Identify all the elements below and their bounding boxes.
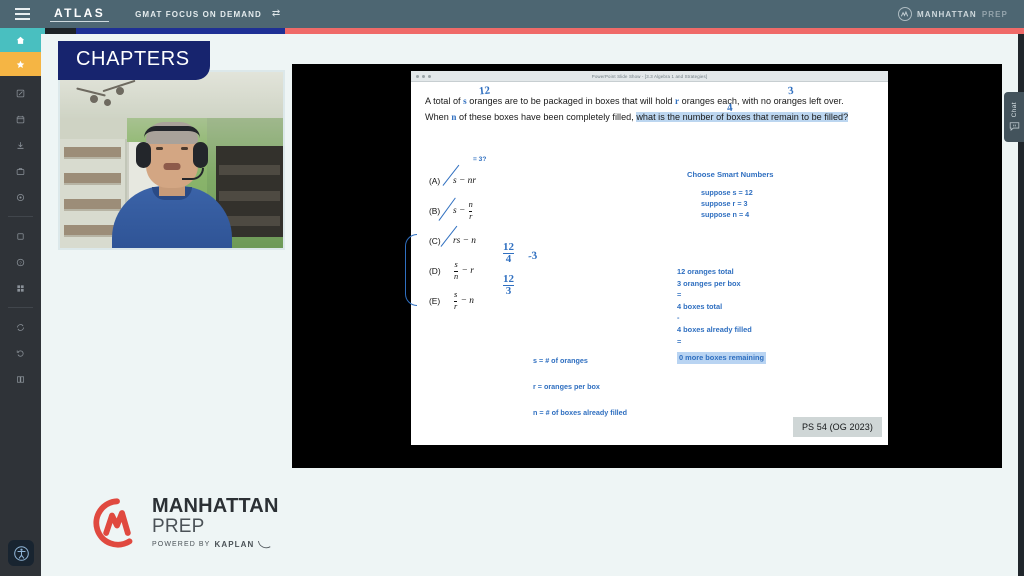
svg-text:?: ? [19,260,22,265]
ink-work-e: 123 [503,274,514,297]
powerpoint-window-title: PowerPoint Slide Show - [3.3 Algebra 1 a… [411,74,888,79]
question-highlighted-clause: what is the number of boxes that remain … [636,112,848,122]
chat-bubble-icon [1009,121,1020,132]
brand-atlas[interactable]: ATLAS [50,6,109,22]
answer-choice-b[interactable]: (B) s − nr [429,200,579,222]
hamburger-icon[interactable] [0,0,44,28]
sidebar-item-calendar[interactable] [0,106,41,132]
answer-choice-a-expr: s − nr [453,176,476,186]
source-tag: PS 54 (OG 2023) [793,417,882,437]
sidebar-item-dashboard[interactable] [0,275,41,301]
video-scene [60,72,283,248]
calc-line-4: 4 boxes total [677,301,766,313]
header-logo: MANHATTAN PREP [898,7,1008,21]
answer-choice-a[interactable]: (A) s − nr [429,170,579,192]
accessibility-person-icon[interactable] [8,540,34,566]
instructor-figure [112,120,232,248]
calc-line-2: 3 oranges per box [677,278,766,290]
instructor-video-feed[interactable] [58,70,285,250]
atlas-course-player: ATLAS GMAT FOCUS ON DEMAND ⇄ MANHATTAN P… [0,0,1024,576]
progress-segment-completed [0,28,45,34]
smart-numbers-title: Choose Smart Numbers [687,170,774,179]
smart-numbers-panel: Choose Smart Numbers suppose s = 12 supp… [687,170,774,221]
ink-annotation-above-s: 12 [478,84,490,97]
question-line2-b: of these boxes have been [456,112,563,122]
ink-work-d: 124 [503,242,514,265]
footer-tagline-prefix: POWERED BY [152,541,210,548]
definition-n: n = # of boxes already filled [533,408,627,417]
footer-logo-line2: PREP [152,517,279,536]
ink-annotation-above-n: 4 [726,102,733,115]
smart-numbers-line-1: suppose s = 12 [701,188,774,197]
calc-line-5: - [677,312,766,324]
sidebar-item-help[interactable]: ? [0,249,41,275]
definition-r: r = oranges per box [533,382,627,391]
chat-tab-label: Chat [1011,102,1018,117]
top-header-bar: ATLAS GMAT FOCUS ON DEMAND ⇄ MANHATTAN P… [0,0,1024,28]
footer-tagline-brand: KAPLAN [214,541,254,549]
rail-divider-1 [8,216,33,217]
slide-content: A total of s oranges are to be packaged … [411,82,888,445]
calc-line-8-answer: 0 more boxes remaining [677,352,766,364]
question-line1-c: oranges [679,96,715,106]
progress-segment-remaining [285,28,1024,34]
sidebar-item-favorites[interactable] [0,52,41,76]
sidebar-item-settings[interactable] [0,184,41,210]
calc-line-6: 4 boxes already filled [677,324,766,336]
calc-line-1: 12 oranges total [677,266,766,278]
answer-choice-d-expr: sn − r [453,261,474,281]
answer-choice-c-expr: rs − n [453,236,476,246]
answer-choice-d-label: (D) [429,266,453,276]
sidebar-item-book[interactable] [0,366,41,392]
question-line1-a: A total of [425,96,463,106]
answer-choice-b-expr: s − nr [453,201,474,221]
powerpoint-titlebar: PowerPoint Slide Show - [3.3 Algebra 1 a… [411,71,888,82]
chapters-banner[interactable]: CHAPTERS [58,41,210,80]
ink-brace [405,234,417,306]
smart-numbers-line-2: suppose r = 3 [701,199,774,208]
sidebar-item-history[interactable] [0,340,41,366]
sidebar-item-notes[interactable] [0,223,41,249]
sidebar-item-downloads[interactable] [0,132,41,158]
variable-definitions: s = # of oranges r = oranges per box n =… [533,356,627,434]
question-line1-b: oranges are to be packaged in boxes that… [467,96,675,106]
sidebar-item-sync[interactable] [0,314,41,340]
calculation-panel: 12 oranges total 3 oranges per box = 4 b… [677,266,766,365]
progress-segment-current [76,28,285,34]
powerpoint-window: PowerPoint Slide Show - [3.3 Algebra 1 a… [411,71,888,445]
ink-annotation-equals-hint: = 3? [473,156,486,163]
manhattan-prep-mark-icon [898,7,912,21]
header-logo-secondary: PREP [982,10,1008,19]
ink-work-d-tail: -3 [527,250,537,263]
footer-logo-line1: MANHATTAN [152,496,279,516]
calc-line-7: = [677,336,766,348]
chapter-progress-bar[interactable] [0,28,1024,34]
swap-arrows-icon[interactable]: ⇄ [272,9,280,19]
slide-stage[interactable]: PowerPoint Slide Show - [3.3 Algebra 1 a… [292,64,1002,468]
course-title: GMAT FOCUS ON DEMAND [135,10,262,19]
question-line3-a: completely filled, [566,112,636,122]
rail-divider-2 [8,307,33,308]
header-logo-primary: MANHATTAN [917,10,977,19]
footer-logo-text: MANHATTAN PREP POWERED BY KAPLAN [152,496,279,549]
chat-tab[interactable]: Chat [1004,92,1024,142]
sidebar-item-library[interactable] [0,158,41,184]
calc-line-3: = [677,289,766,301]
smart-numbers-line-3: suppose n = 4 [701,210,774,219]
manhattan-prep-mark-icon [92,498,142,548]
answer-choice-e-expr: sr − n [453,291,474,311]
left-icon-rail: ? [0,28,41,576]
question-text: A total of s oranges are to be packaged … [425,94,855,125]
definition-s: s = # of oranges [533,356,627,365]
answer-choice-e-label: (E) [429,296,453,306]
footer-tagline: POWERED BY KAPLAN [152,540,279,549]
manhattan-prep-footer-logo: MANHATTAN PREP POWERED BY KAPLAN [92,496,279,549]
ink-annotation-above-r: 3 [787,85,794,98]
ceiling-lamp [76,81,144,107]
kaplan-swoosh-icon [258,540,272,549]
progress-segment-gap [45,28,76,34]
sidebar-item-assignments[interactable] [0,80,41,106]
